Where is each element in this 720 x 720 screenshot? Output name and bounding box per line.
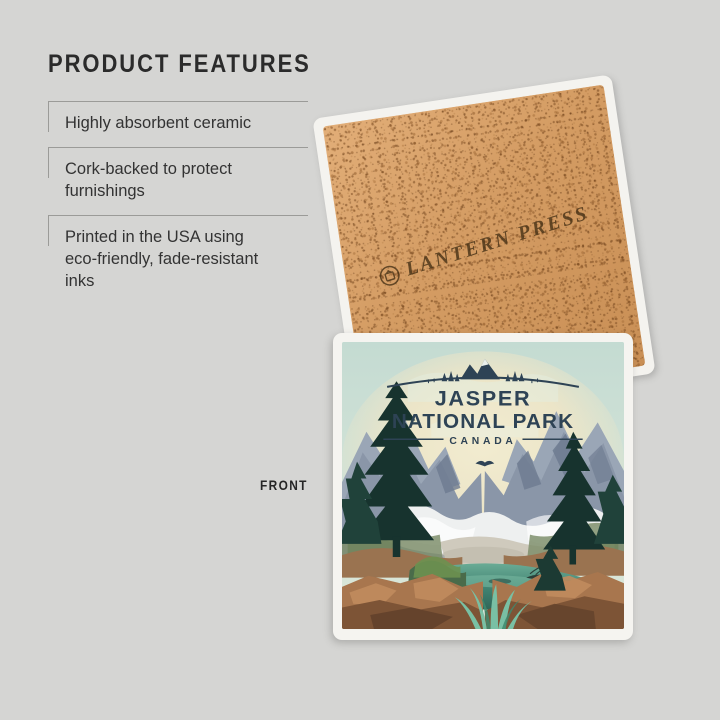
poster-title-line-2: NATIONAL PARK <box>392 410 574 433</box>
page-title: PRODUCT FEATURES <box>48 50 277 79</box>
poster-title-line-1: JASPER <box>435 386 532 411</box>
jasper-national-park-illustration: JASPER NATIONAL PARK CANADA <box>342 342 624 629</box>
poster-subtitle: CANADA <box>449 436 516 447</box>
lantern-icon <box>377 263 403 289</box>
feature-text: Highly absorbent ceramic <box>65 113 280 135</box>
coaster-front: JASPER NATIONAL PARK CANADA <box>333 333 633 640</box>
feature-text: Printed in the USA using eco-friendly, f… <box>65 227 280 293</box>
brand-stamp: LANTERN PRESS <box>376 202 591 290</box>
poster-artwork: JASPER NATIONAL PARK CANADA <box>342 342 624 629</box>
callout-label-front: FRONT <box>260 477 308 493</box>
feature-item: Printed in the USA using eco-friendly, f… <box>48 215 308 305</box>
feature-item: Highly absorbent ceramic <box>48 101 308 147</box>
feature-item: Cork-backed to protect furnishings <box>48 147 308 215</box>
product-features-panel: PRODUCT FEATURES Highly absorbent cerami… <box>48 50 308 305</box>
feature-text: Cork-backed to protect furnishings <box>65 159 280 203</box>
brand-name: LANTERN PRESS <box>403 202 592 281</box>
